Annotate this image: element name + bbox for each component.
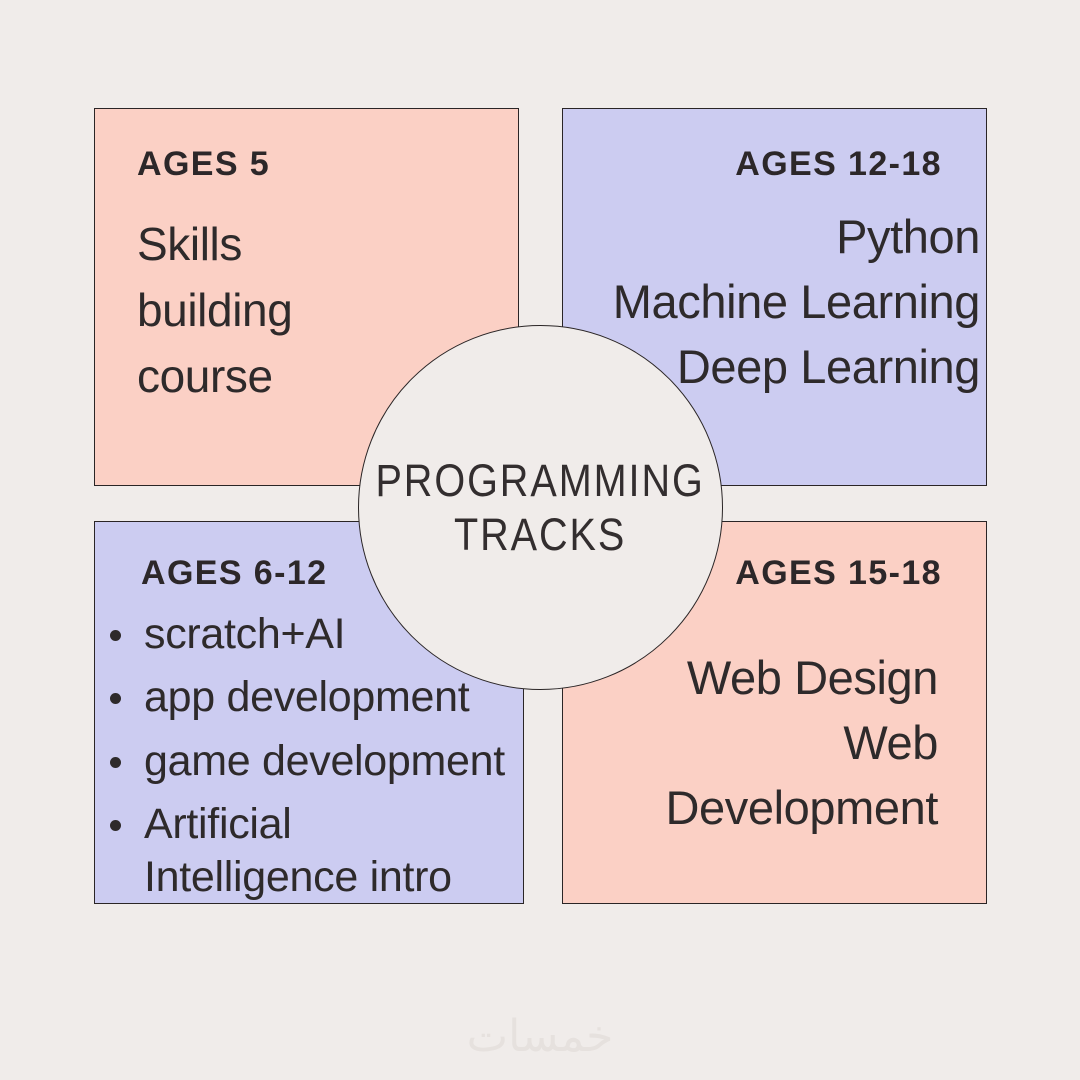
ages-15-18-topic-2: Web Development bbox=[577, 711, 938, 841]
age-label-row: AGES 5 bbox=[137, 147, 498, 181]
age-label-ages-12-18: AGES 12-18 bbox=[735, 145, 942, 183]
age-label-ages-6-12: AGES 6-12 bbox=[141, 554, 327, 592]
ages-5-headline: Skills building course bbox=[137, 211, 367, 410]
age-label-ages-15-18: AGES 15-18 bbox=[735, 554, 942, 592]
age-label-row: AGES 12-18 bbox=[577, 147, 980, 181]
ages-15-18-topics: Web Design Web Development bbox=[577, 646, 980, 841]
list-item: game development bbox=[105, 735, 517, 788]
programming-tracks-infographic: AGES 5 Skills building course AGES 12-18… bbox=[0, 0, 1080, 1080]
ages-5-headline-line-2: building bbox=[137, 277, 367, 343]
ages-5-headline-line-3: course bbox=[137, 343, 367, 409]
list-item: app development bbox=[105, 671, 517, 724]
watermark-khamsat: خمسات bbox=[0, 1011, 1080, 1062]
center-title-line-2: TRACKS bbox=[376, 508, 705, 561]
ages-5-headline-line-1: Skills bbox=[137, 211, 367, 277]
list-item: Artificial Intelligence intro bbox=[105, 798, 517, 904]
age-label-ages-5: AGES 5 bbox=[137, 145, 270, 183]
center-title-line-1: PROGRAMMING bbox=[376, 454, 705, 507]
center-title: PROGRAMMING TRACKS bbox=[376, 454, 705, 560]
center-circle-badge: PROGRAMMING TRACKS bbox=[358, 325, 723, 690]
ages-12-18-topic-2: Machine Learning bbox=[577, 270, 980, 335]
ages-12-18-topic-1: Python bbox=[577, 205, 980, 270]
